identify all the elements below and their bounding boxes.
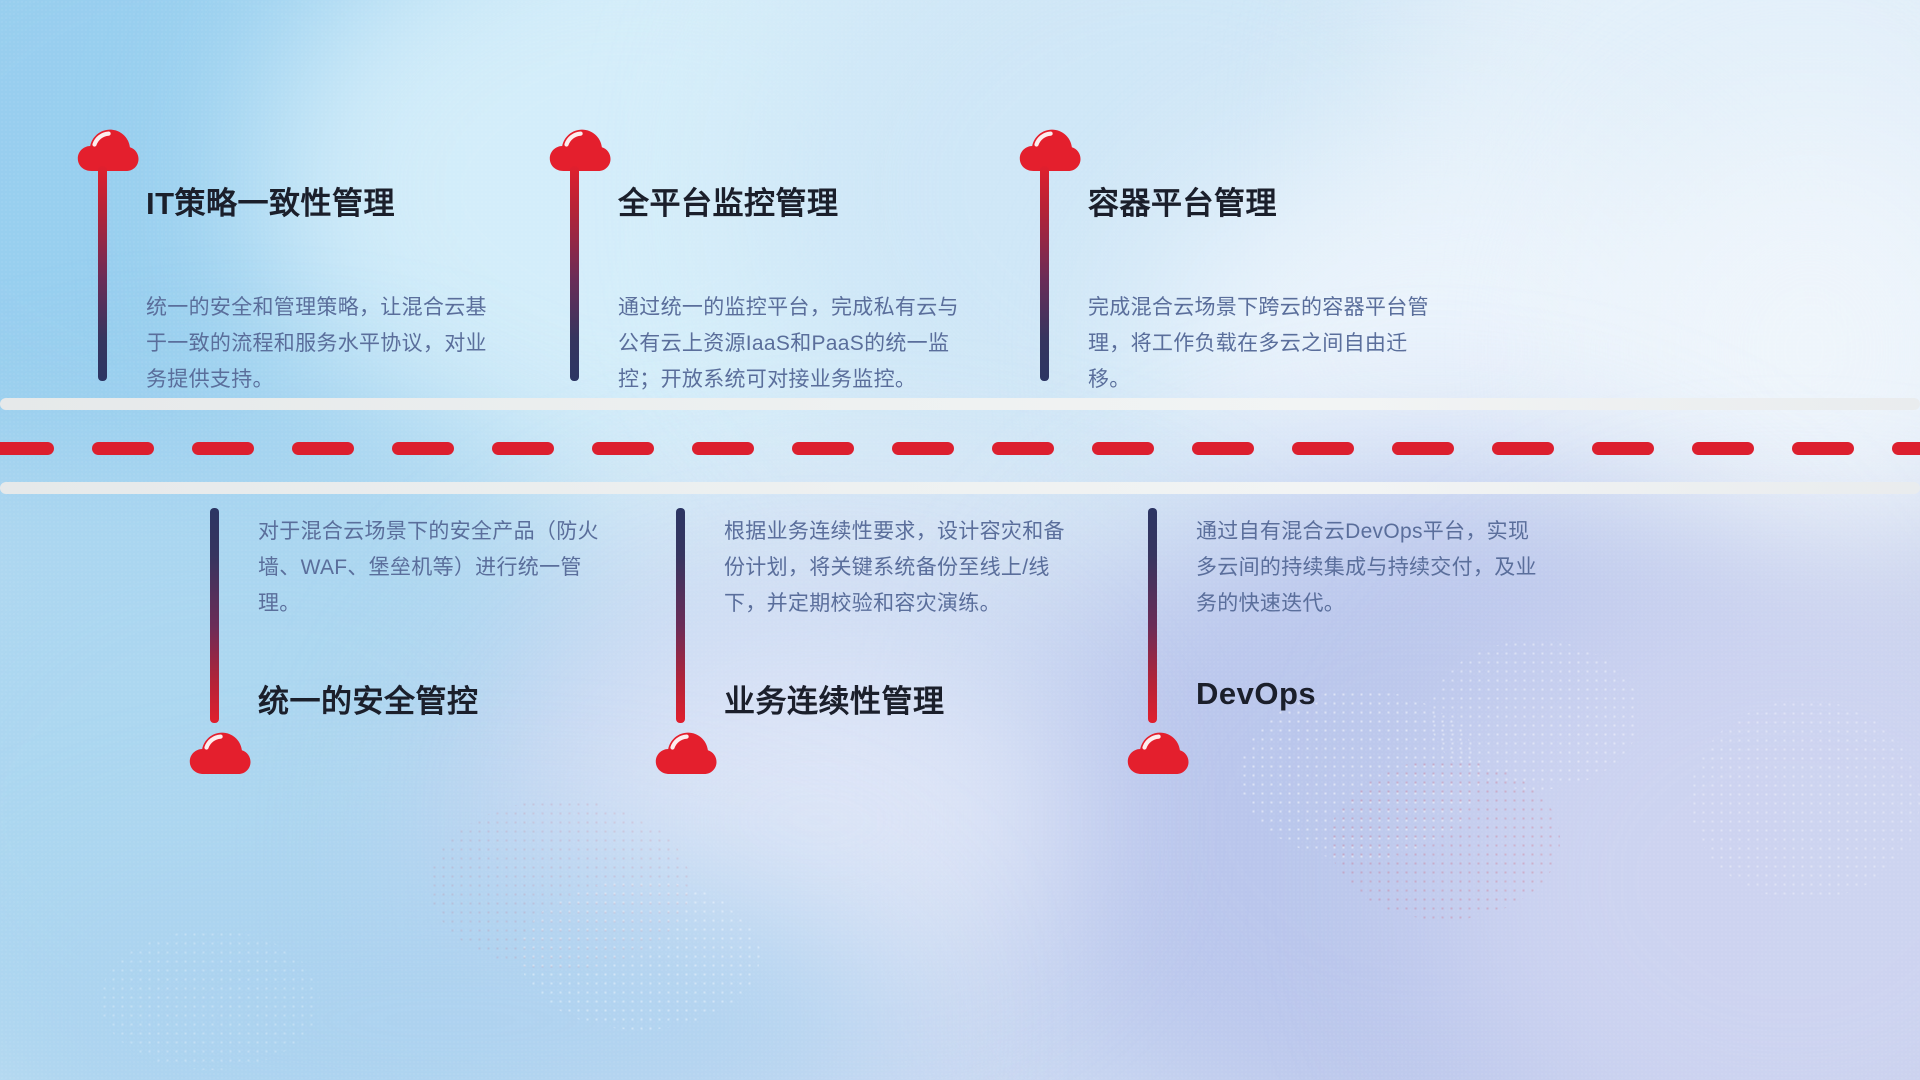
cloud-icon (655, 731, 717, 775)
road-dash (492, 442, 554, 455)
cloud-icon (1127, 731, 1189, 775)
cloud-icon (189, 731, 251, 775)
road-dash (1192, 442, 1254, 455)
road-dash (1092, 442, 1154, 455)
road-dash (392, 442, 454, 455)
feature-title: 容器平台管理 (1088, 178, 1277, 223)
road-dash (1292, 442, 1354, 455)
road-dash (792, 442, 854, 455)
feature-title: 统一的安全管控 (258, 676, 479, 721)
feature-description: 根据业务连续性要求，设计容灾和备份计划，将关键系统备份至线上/线下，并定期校验和… (724, 514, 1076, 622)
connector-line (210, 508, 219, 723)
connector-line (98, 166, 107, 381)
road-dash (0, 442, 54, 455)
road-dash (1792, 442, 1854, 455)
road-dash (192, 442, 254, 455)
connector-line (1040, 166, 1049, 381)
road-dash (1592, 442, 1654, 455)
feature-description: 通过统一的监控平台，完成私有云与公有云上资源IaaS和PaaS的统一监控；开放系… (618, 290, 970, 398)
feature-title: DevOps (1196, 676, 1316, 712)
feature-title: 业务连续性管理 (724, 676, 945, 721)
feature-description: 通过自有混合云DevOps平台，实现多云间的持续集成与持续交付，及业务的快速迭代… (1196, 514, 1548, 622)
road-rail-top (0, 398, 1920, 410)
feature-description: 统一的安全和管理策略，让混合云基于一致的流程和服务水平协议，对业务提供支持。 (146, 290, 496, 398)
road-dash (892, 442, 954, 455)
cloud-icon (1019, 128, 1081, 172)
feature-description: 对于混合云场景下的安全产品（防火墙、WAF、堡垒机等）进行统一管理。 (258, 514, 610, 622)
road-dash (292, 442, 354, 455)
road-dash (1892, 442, 1920, 455)
cloud-icon (77, 128, 139, 172)
road-dash (592, 442, 654, 455)
road-rail-bottom (0, 482, 1920, 494)
road-dash (692, 442, 754, 455)
connector-line (676, 508, 685, 723)
road-center-dashes (0, 442, 1920, 455)
connector-line (570, 166, 579, 381)
road-divider (0, 398, 1920, 494)
feature-title: IT策略一致性管理 (146, 178, 395, 223)
road-dash (92, 442, 154, 455)
road-dash (992, 442, 1054, 455)
feature-description: 完成混合云场景下跨云的容器平台管理，将工作负载在多云之间自由迁移。 (1088, 290, 1440, 398)
feature-title: 全平台监控管理 (618, 178, 839, 223)
road-dash (1692, 442, 1754, 455)
cloud-icon (549, 128, 611, 172)
road-dash (1492, 442, 1554, 455)
connector-line (1148, 508, 1157, 723)
road-dash (1392, 442, 1454, 455)
